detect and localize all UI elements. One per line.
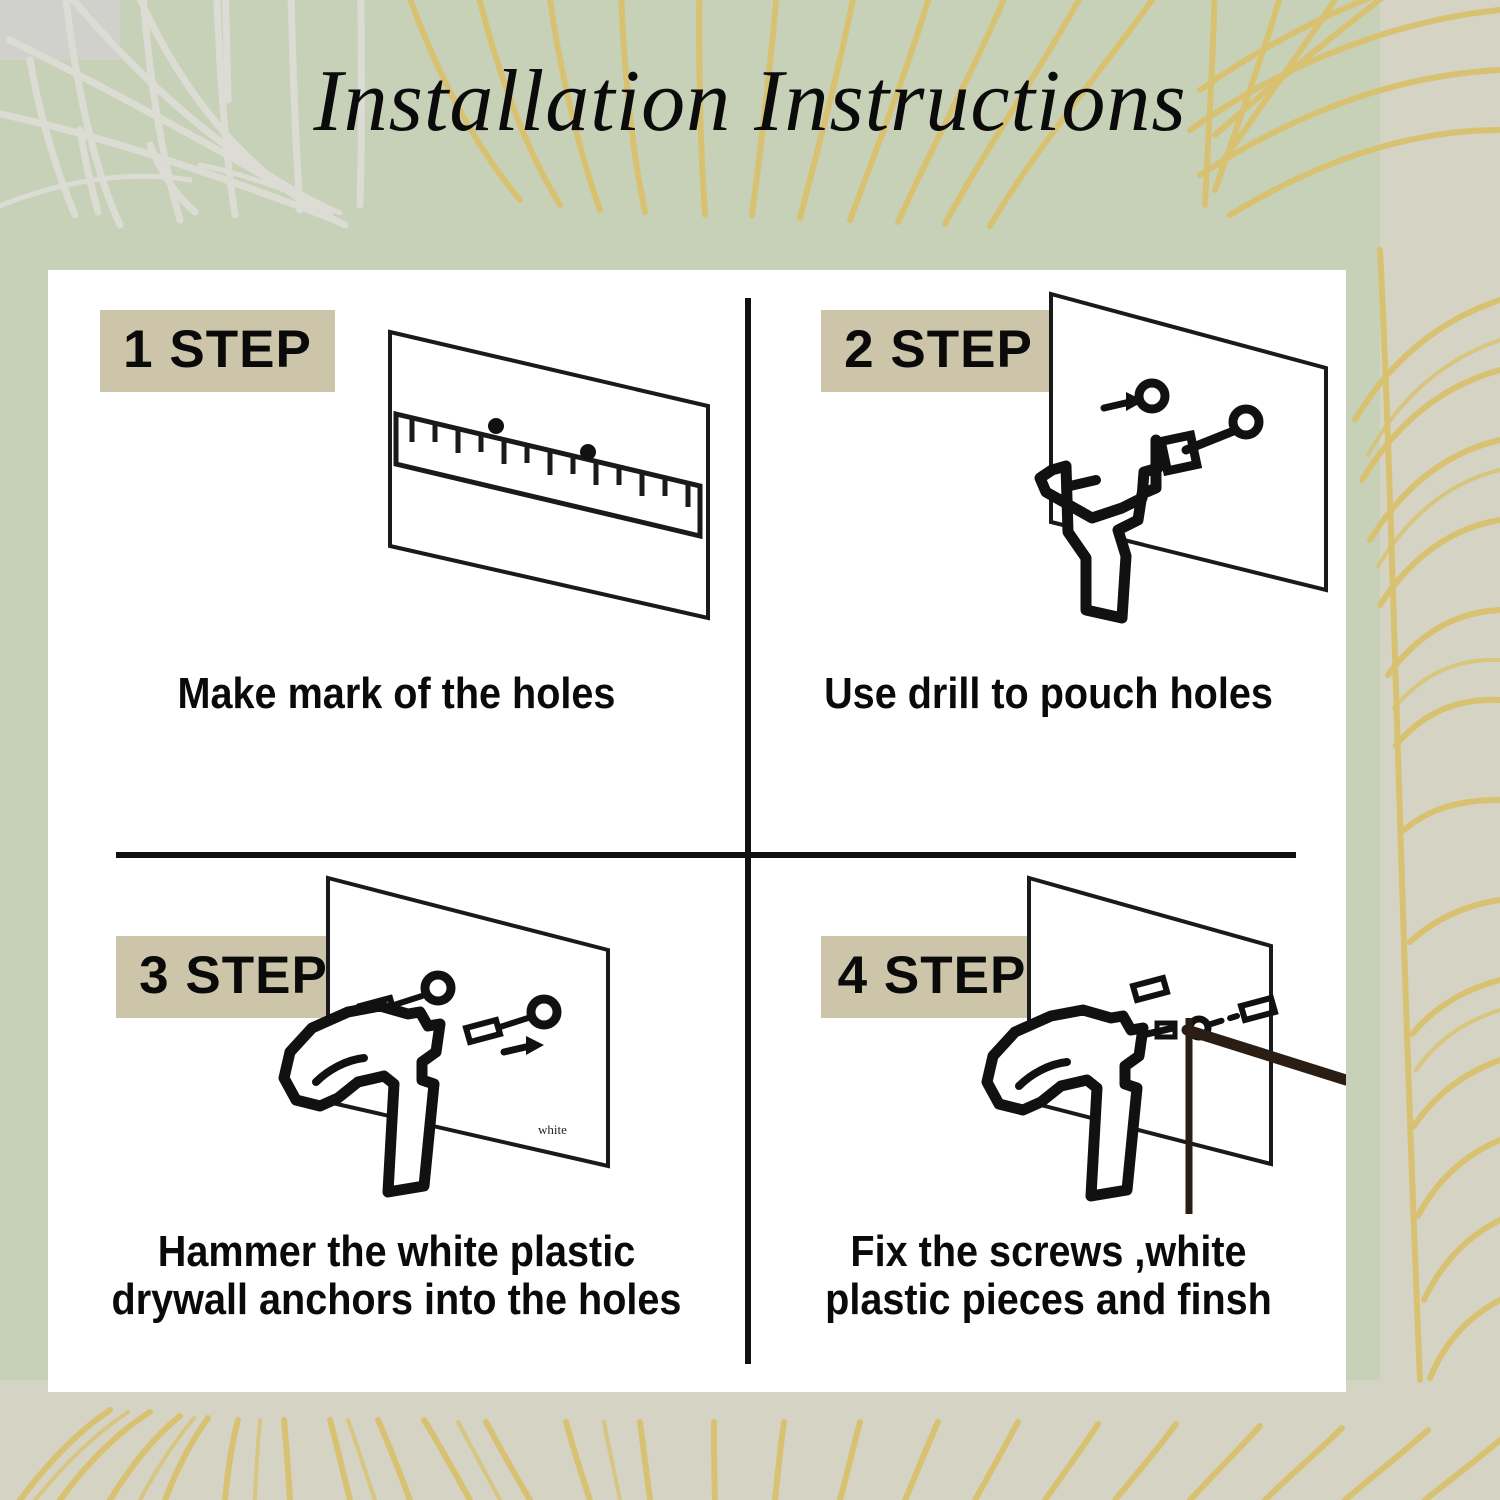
step-badge-2: 2 STEP: [821, 310, 1056, 392]
step-caption-4-line2: plastic pieces and finsh: [781, 1276, 1317, 1324]
instruction-poster: Installation Instructions 1 STEP: [0, 0, 1500, 1500]
step-caption-1: Make mark of the holes: [83, 670, 710, 718]
hammer-screw-and-rod-icon: [911, 868, 1346, 1218]
wall-with-ruler-icon: [378, 318, 718, 648]
drill-on-wall-icon: [1026, 280, 1356, 625]
step-caption-1-line1: Make mark of the holes: [83, 670, 710, 718]
step-caption-4-line1: Fix the screws ,white: [781, 1228, 1317, 1276]
step-caption-3-line2: drywall anchors into the holes: [83, 1276, 710, 1324]
step-panel-4[interactable]: 4 STEP: [751, 858, 1346, 1392]
anchor-color-label: white: [538, 1122, 567, 1137]
step-caption-4: Fix the screws ,white plastic pieces and…: [781, 1228, 1317, 1323]
step-panel-3[interactable]: 3 STEP: [48, 858, 745, 1392]
instructions-card: 1 STEP: [48, 270, 1346, 1392]
step-caption-3-line1: Hammer the white plastic: [83, 1228, 710, 1276]
step-caption-2-line1: Use drill to pouch holes: [781, 670, 1317, 718]
hammer-driving-anchor-icon: white: [208, 866, 628, 1216]
step-panel-1[interactable]: 1 STEP: [48, 270, 745, 855]
step-panel-2[interactable]: 2 STEP: [751, 270, 1346, 855]
page-title: Installation Instructions: [0, 58, 1500, 146]
step-badge-1: 1 STEP: [100, 310, 335, 392]
step-caption-3: Hammer the white plastic drywall anchors…: [83, 1228, 710, 1323]
step-caption-2: Use drill to pouch holes: [781, 670, 1317, 718]
